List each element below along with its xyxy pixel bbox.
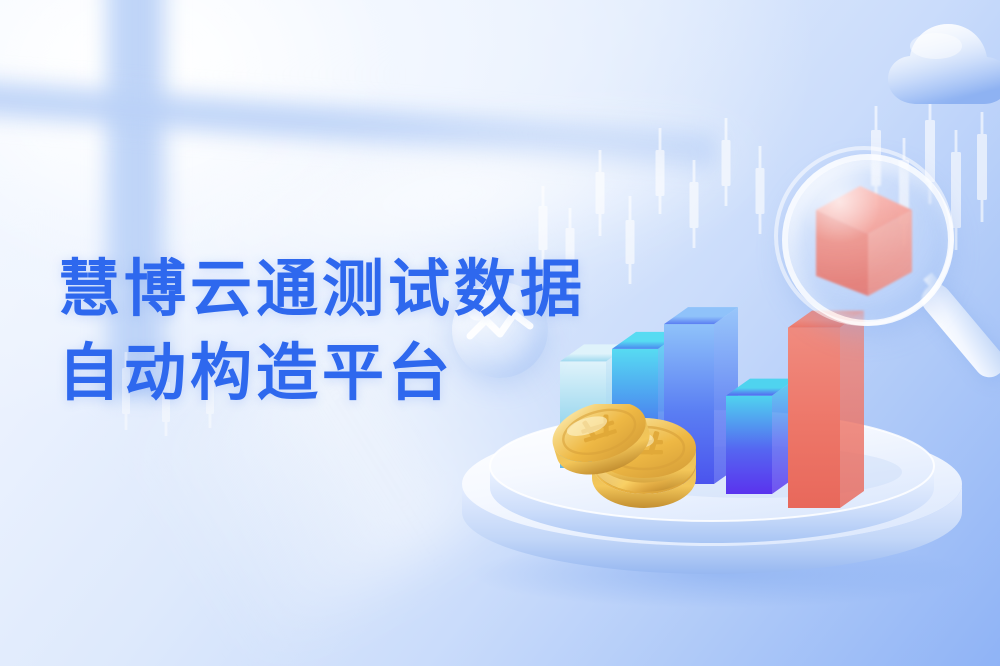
magnifier-rim: [774, 146, 954, 326]
banner-title: 慧博云通测试数据 自动构造平台: [58, 247, 586, 415]
title-line-2: 自动构造平台: [58, 331, 586, 415]
title-line-1: 慧博云通测试数据: [58, 247, 586, 331]
cloud-icon: [884, 12, 1000, 116]
gold-coins: [552, 404, 742, 514]
magnifying-glass: [772, 148, 1000, 408]
promo-banner: 慧博云通测试数据 自动构造平台: [0, 0, 1000, 666]
